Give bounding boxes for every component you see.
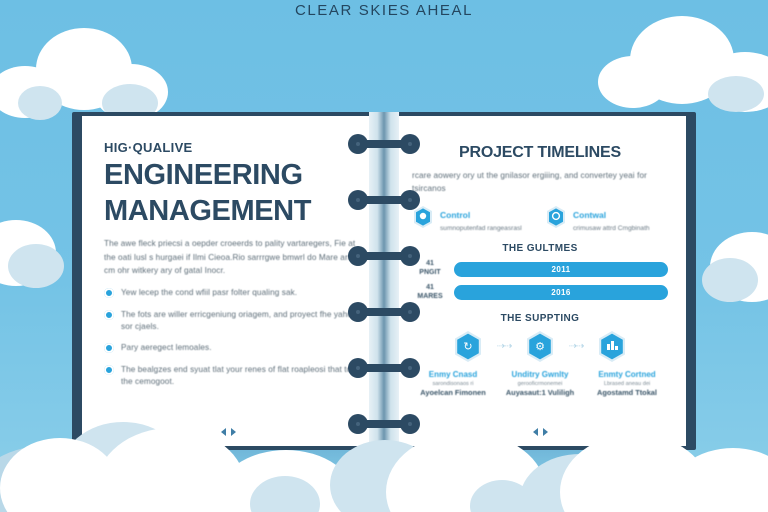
process-label-title: Unditry Gwnlty: [499, 370, 581, 380]
list-item-label: Yew lecep the cond wfiil pasr folter qua…: [121, 287, 356, 299]
left-title-line1: ENGINEERING: [104, 160, 356, 191]
binding-ring: [348, 246, 420, 266]
list-item: Pary aeregect lemoales.: [104, 342, 356, 354]
svg-text:↻: ↻: [463, 340, 472, 353]
list-item-label: The fots are willer erricgeniung oriagem…: [121, 309, 356, 334]
process-label-title: Enmty Cortned: [586, 370, 668, 380]
svg-text:⚙: ⚙: [535, 340, 545, 353]
hexagon-badge-icon: [545, 205, 567, 229]
feature-card-title: Contwal: [573, 210, 606, 220]
binding-ring: [348, 302, 420, 322]
bullet-dot-icon: [104, 310, 114, 320]
process-label-sub: sarondisonaos ri: [412, 381, 494, 388]
list-item: The bealgzes end syuat tlat your renes o…: [104, 364, 356, 389]
left-bullet-list: Yew lecep the cond wfiil pasr folter qua…: [104, 287, 356, 388]
list-item-label: The bealgzes end syuat tlat your renes o…: [121, 364, 356, 389]
timeline-heading: THE GULTMES: [412, 243, 668, 254]
bullet-dot-icon: [104, 343, 114, 353]
spiral-binding: [348, 134, 420, 434]
list-item: The fots are willer erricgeniung oriagem…: [104, 309, 356, 334]
process-label-sub: Lbrased aneau dei: [586, 381, 668, 388]
process-heading: THE SUPPTING: [412, 313, 668, 324]
feature-card: Control sumnoputenfad rangeasrasl: [412, 205, 535, 234]
timeline-label-top: 41: [426, 284, 434, 291]
timeline-bar: 2016: [454, 285, 668, 300]
process-label-sub: gerooficrmonemei: [499, 381, 581, 388]
timeline-bar: 2011: [454, 262, 668, 277]
binding-ring: [348, 190, 420, 210]
process-node-row: ↻ ⇢⇢ ⚙ ⇢⇢: [412, 330, 668, 363]
hexagon-gear-icon: ⚙: [525, 330, 555, 363]
left-paragraph: The awe fleck priecsi a oepder croeerds …: [104, 237, 356, 277]
timeline-label-bottom: MARES: [417, 293, 442, 300]
timeline-row: 41 MARES 2016: [412, 284, 668, 302]
right-title: PROJECT TIMELINES: [412, 144, 668, 162]
feature-card-row: Control sumnoputenfad rangeasrasl Contwa…: [412, 205, 668, 234]
list-item-label: Pary aeregect lemoales.: [121, 342, 356, 354]
left-kicker: HIG·QUALIVE: [104, 140, 356, 155]
binding-ring: [348, 134, 420, 154]
cloud-bank-bottom: [0, 392, 768, 512]
left-title-line2: MANAGEMENT: [104, 196, 356, 227]
list-item: Yew lecep the cond wfiil pasr folter qua…: [104, 287, 356, 299]
illustration-scene: CLEAR SKIES AHEAL HIG·QUALIVE ENGINEERIN…: [0, 0, 768, 512]
process-label-title: Enmy Cnasd: [412, 370, 494, 380]
binding-ring: [348, 358, 420, 378]
timeline-label-bottom: PNGIT: [419, 269, 440, 276]
feature-card-text: crimusaw attrd Cmgbinath: [573, 225, 650, 234]
feature-card-title: Control: [440, 210, 470, 220]
hexagon-chart-icon: [597, 330, 627, 363]
page-title: CLEAR SKIES AHEAL: [0, 2, 768, 19]
timeline-row: 41 PNGIT 2011: [412, 260, 668, 278]
process-connector-icon: ⇢⇢: [487, 341, 521, 352]
timeline-label-top: 41: [426, 260, 434, 267]
feature-card-text: sumnoputenfad rangeasrasl: [440, 225, 522, 234]
process-connector-icon: ⇢⇢: [559, 341, 593, 352]
bullet-dot-icon: [104, 365, 114, 375]
hexagon-cycle-icon: ↻: [453, 330, 483, 363]
right-paragraph: rcare aowery ory ut the gnilasor ergiiin…: [412, 169, 668, 196]
feature-card: Contwal crimusaw attrd Cmgbinath: [545, 205, 668, 234]
bullet-dot-icon: [104, 288, 114, 298]
